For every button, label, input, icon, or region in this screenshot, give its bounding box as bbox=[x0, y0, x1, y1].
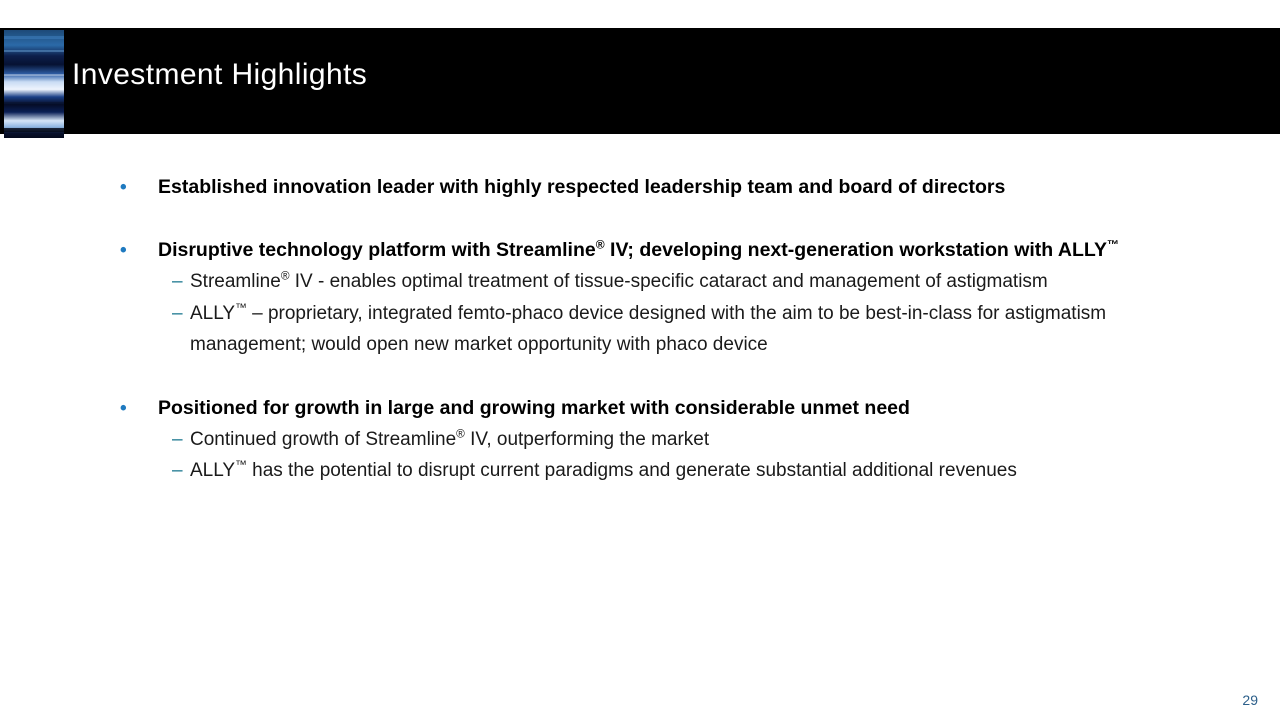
bullet-level1: • Disruptive technology platform with St… bbox=[0, 235, 1280, 266]
page-number: 29 bbox=[1242, 692, 1258, 708]
bullet-group-1: • Established innovation leader with hig… bbox=[0, 172, 1280, 203]
registered-mark: ® bbox=[456, 427, 465, 440]
bullet-dash-icon: – bbox=[172, 266, 188, 298]
slide-canvas: Investment Highlights • Established inno… bbox=[0, 0, 1280, 720]
page-title: Investment Highlights bbox=[72, 58, 367, 91]
bullet-level1-text: Positioned for growth in large and growi… bbox=[158, 397, 910, 419]
blue-banded-abstract-strip-icon bbox=[4, 30, 64, 138]
spacer bbox=[0, 203, 1280, 235]
bullet-level2-text: ALLY™ – proprietary, integrated femto-ph… bbox=[190, 303, 1106, 356]
bullet-level2: – Continued growth of Streamline® IV, ou… bbox=[0, 424, 1280, 456]
bullet-level2-text: Continued growth of Streamline® IV, outp… bbox=[190, 429, 709, 450]
bullet-level2-text: ALLY™ has the potential to disrupt curre… bbox=[190, 460, 1017, 481]
trademark-mark: ™ bbox=[235, 459, 247, 472]
trademark-mark: ™ bbox=[1107, 238, 1119, 252]
bullet-level1: • Positioned for growth in large and gro… bbox=[0, 393, 1280, 424]
registered-mark: ® bbox=[596, 238, 605, 252]
bullet-group-2: • Disruptive technology platform with St… bbox=[0, 235, 1280, 361]
bullet-dash-icon: – bbox=[172, 298, 188, 330]
bullet-level1-text: Established innovation leader with highl… bbox=[158, 176, 1005, 198]
bullet-dash-icon: – bbox=[172, 424, 188, 456]
trademark-mark: ™ bbox=[235, 301, 247, 314]
bullet-level2-text: Streamline® IV - enables optimal treatme… bbox=[190, 271, 1048, 292]
bullet-level1-text: Disruptive technology platform with Stre… bbox=[158, 239, 1119, 261]
bullet-dot-icon: • bbox=[120, 393, 134, 424]
bullet-level2: – ALLY™ has the potential to disrupt cur… bbox=[0, 455, 1280, 487]
bullet-level1: • Established innovation leader with hig… bbox=[0, 172, 1280, 203]
slide-body: • Established innovation leader with hig… bbox=[0, 172, 1280, 487]
registered-mark: ® bbox=[281, 270, 290, 283]
bullet-level2: – ALLY™ – proprietary, integrated femto-… bbox=[0, 298, 1280, 361]
bullet-dot-icon: • bbox=[120, 235, 134, 266]
bullet-group-3: • Positioned for growth in large and gro… bbox=[0, 393, 1280, 487]
bullet-dot-icon: • bbox=[120, 172, 134, 203]
bullet-level2: – Streamline® IV - enables optimal treat… bbox=[0, 266, 1280, 298]
spacer bbox=[0, 361, 1280, 393]
bullet-dash-icon: – bbox=[172, 455, 188, 487]
